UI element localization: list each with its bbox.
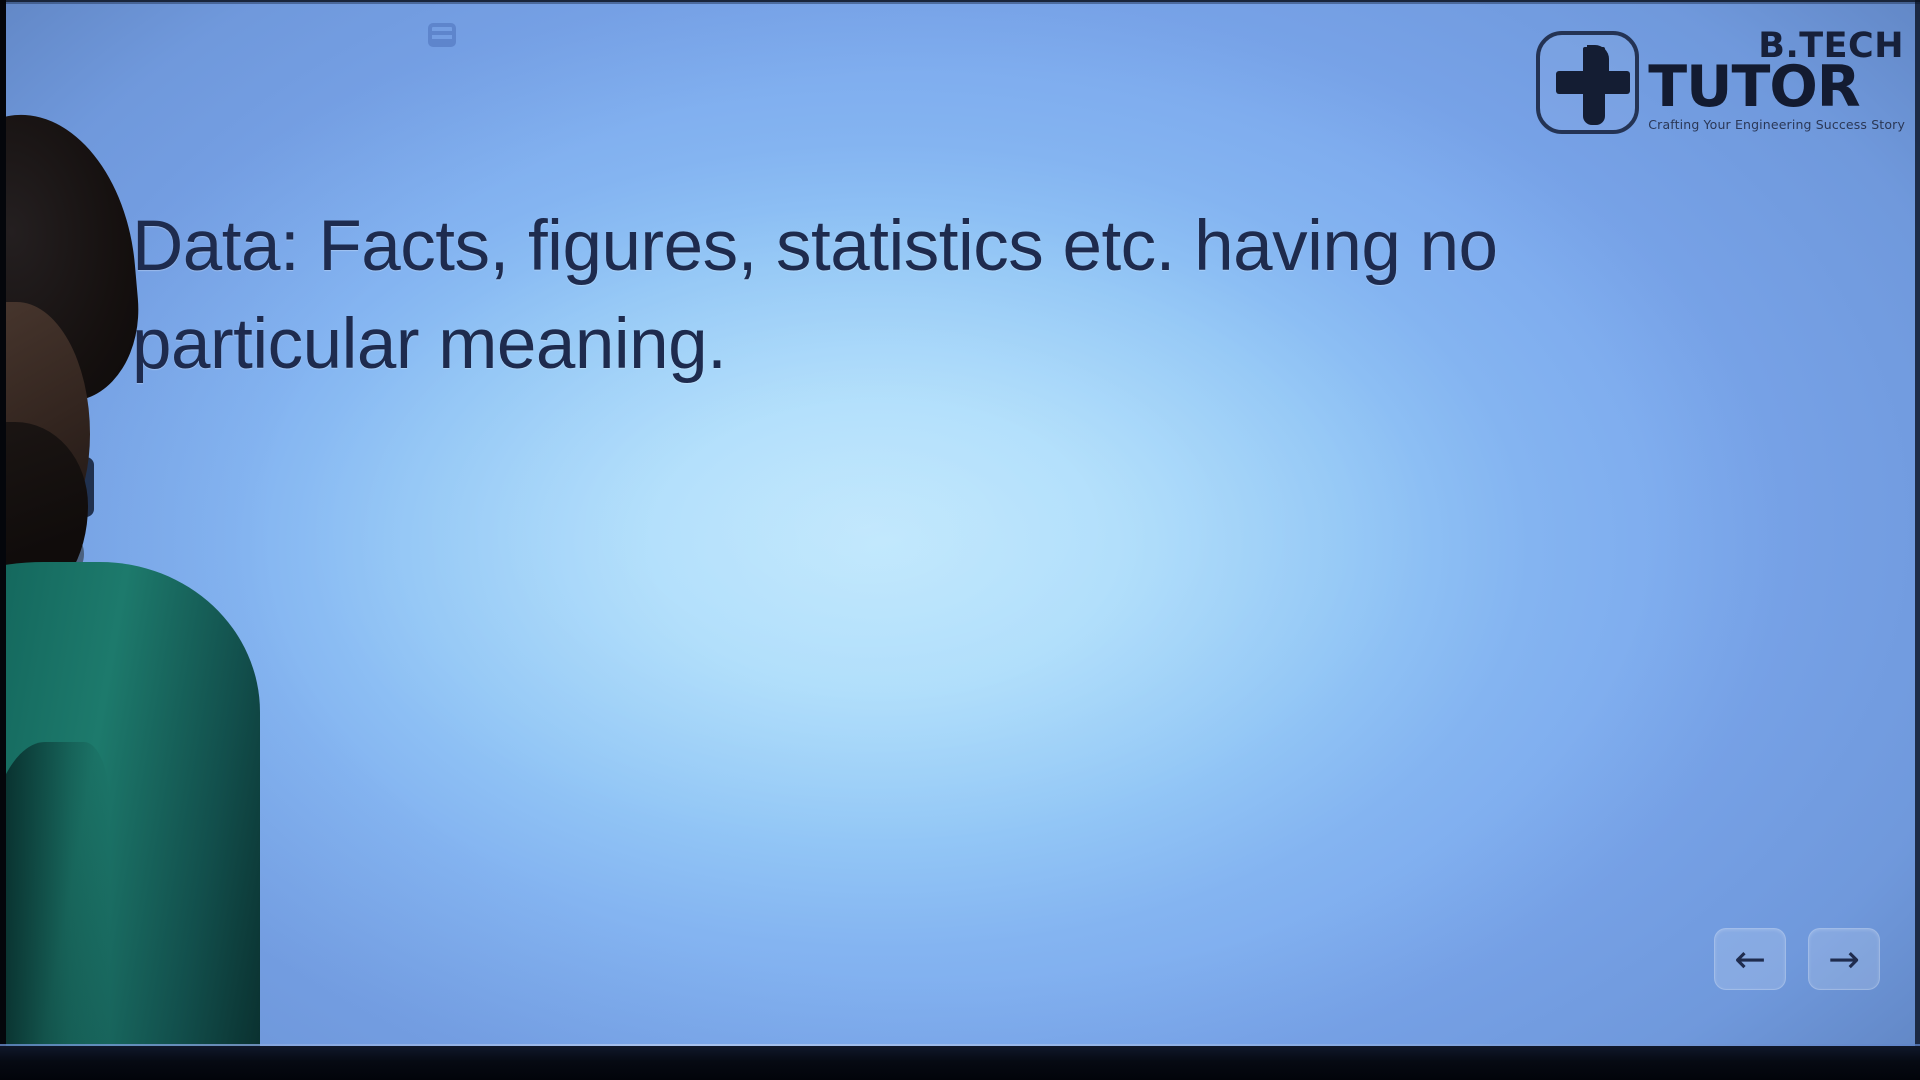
mini-widget-bar-bottom <box>431 39 453 43</box>
projected-slide-surface: B.TECH TUTOR Crafting Your Engineering S… <box>0 2 1920 1048</box>
slide-text-line-1: Data: Facts, figures, statistics etc. ha… <box>132 198 1752 296</box>
prev-slide-glyph: ← <box>1734 940 1766 978</box>
mini-widget-bar-top <box>431 31 453 35</box>
brand-logo: B.TECH TUTOR Crafting Your Engineering S… <box>1536 28 1908 134</box>
presentation-photo-frame: B.TECH TUTOR Crafting Your Engineering S… <box>0 0 1920 1080</box>
presenter-arm-shadow <box>0 742 110 1048</box>
slide-body-text: Data: Facts, figures, statistics etc. ha… <box>132 198 1752 394</box>
display-bezel-right <box>1915 0 1920 1080</box>
arrow-right-icon[interactable]: → <box>1808 928 1880 990</box>
display-bezel-bottom <box>0 1046 1920 1080</box>
slide-text-line-2: particular meaning. <box>132 296 1752 394</box>
brand-wordmark: B.TECH TUTOR Crafting Your Engineering S… <box>1648 28 1908 132</box>
brand-line-tutor: TUTOR <box>1648 60 1908 114</box>
presenter-silhouette <box>0 2 330 1048</box>
next-slide-glyph: → <box>1828 940 1860 978</box>
arrow-left-icon[interactable]: ← <box>1714 928 1786 990</box>
letter-t-rounded-square-icon <box>1536 31 1639 134</box>
display-bezel-left <box>0 0 6 1080</box>
logo-t-stem <box>1583 47 1605 125</box>
minimized-toolbar-icon[interactable] <box>428 23 456 47</box>
display-bezel-top <box>0 0 1920 4</box>
brand-tagline: Crafting Your Engineering Success Story <box>1648 117 1908 132</box>
slide-navigation: ← → <box>1714 928 1880 990</box>
